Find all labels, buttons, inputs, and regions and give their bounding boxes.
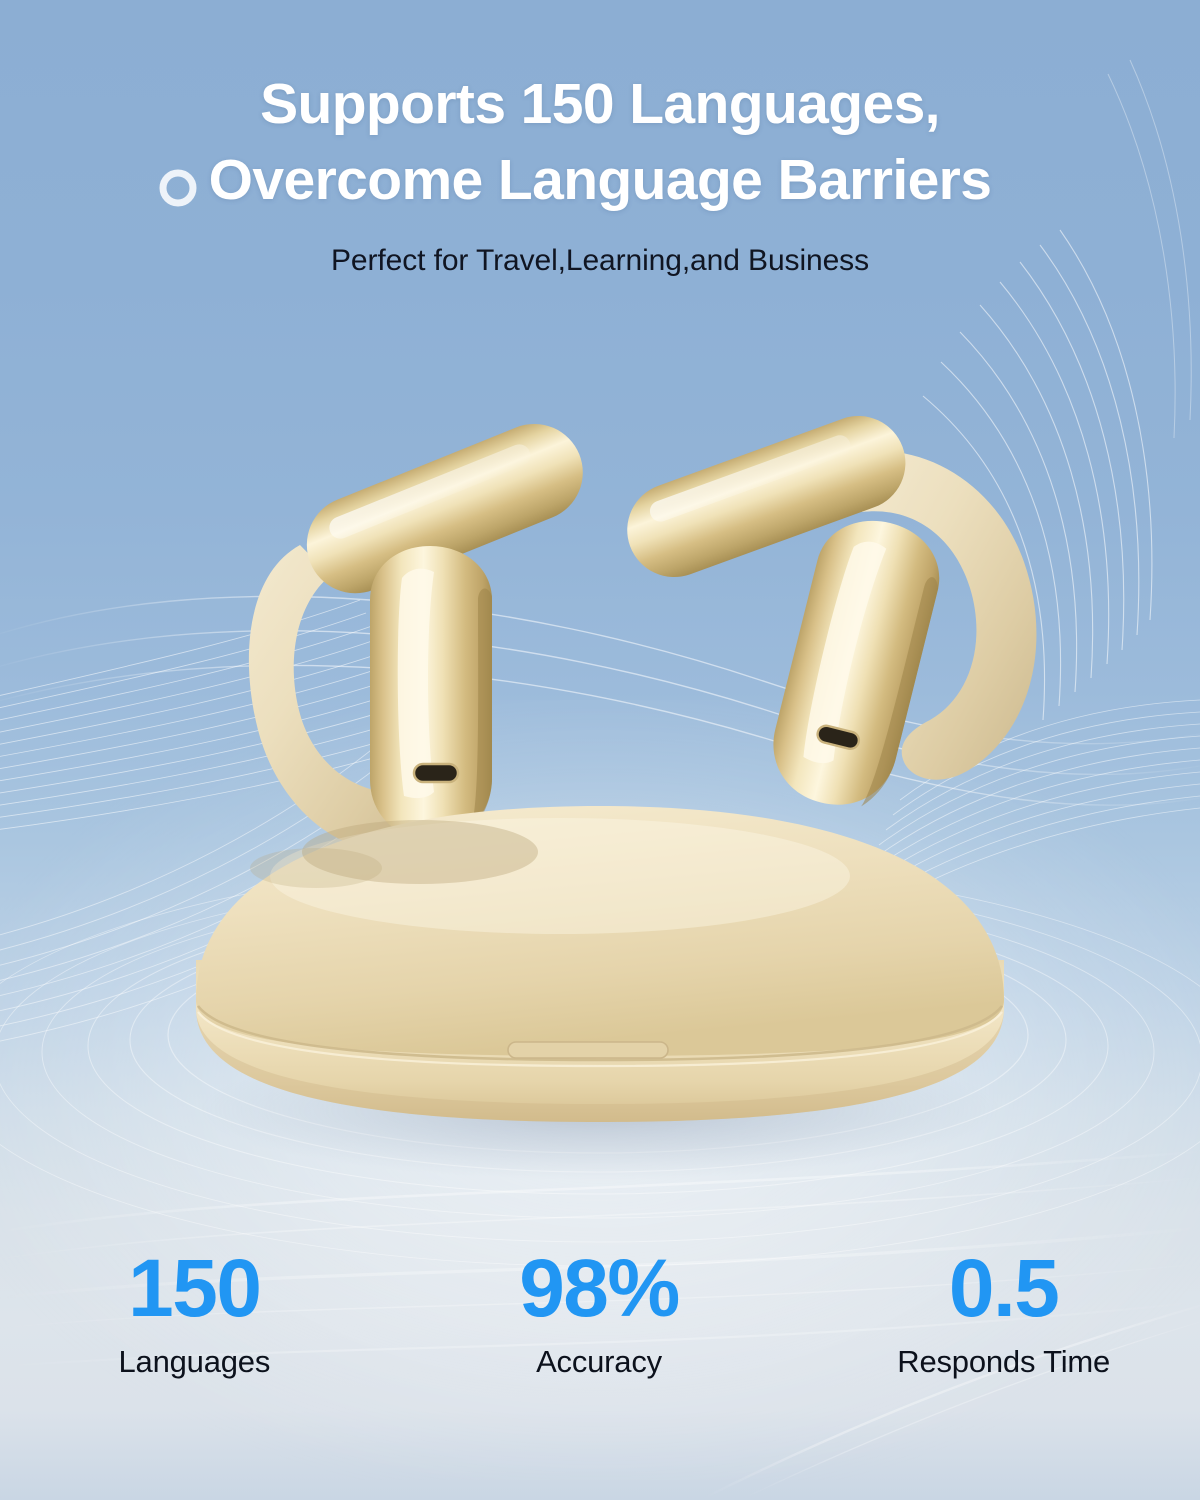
left-earbud-hook [249,545,452,852]
ripple-rings [0,862,1200,1266]
wave-mesh-left [0,600,426,832]
left-earbud-port [414,764,458,782]
page-title: Supports 150 Languages, Overcome Languag… [0,66,1200,218]
left-earbud-highlight [398,569,434,798]
stat-value-accuracy: 98% [397,1243,802,1335]
wave-swoosh-mid [0,596,1200,805]
case-contact-shadow [302,820,538,884]
charging-case [196,806,1004,1122]
stat-value-responds-time: 0.5 [801,1243,1200,1335]
case-ground-shadow [200,1040,1000,1180]
wave-fan-left [0,700,472,1045]
stats-row: 150 Languages 98% Accuracy 0.5 Responds … [0,1243,1200,1381]
headline-line-1: Supports 150 Languages, [260,72,940,136]
right-earbud-highlight [797,537,887,766]
stat-label-languages: Languages [0,1343,397,1381]
case-open-notch [508,1042,668,1058]
stat-label-responds-time: Responds Time [801,1343,1200,1381]
left-earbud-bar-highlight [326,441,534,542]
right-earbud [614,403,1036,818]
stat-accuracy: 98% Accuracy [397,1243,802,1381]
stat-languages: 150 Languages [0,1243,397,1381]
right-earbud-bar-highlight [647,432,853,524]
case-lid [196,806,1004,1056]
wave-fan-right [923,230,1152,720]
right-earbud-gold-bar [614,403,919,591]
right-earbud-port [816,724,861,751]
stat-responds-time: 0.5 Responds Time [801,1243,1200,1381]
right-earbud-hook [856,451,1036,780]
case-lid-highlight [270,818,850,934]
stat-value-languages: 150 [0,1243,397,1335]
left-earbud-pod [370,546,492,840]
left-earbud [249,409,598,852]
headline-line-2: Overcome Language Barriers [0,142,1200,218]
left-earbud-gold-bar [292,409,597,608]
right-earbud-pod [761,508,951,817]
subheadline: Perfect for Travel,Learning,and Business [0,244,1200,278]
stat-label-accuracy: Accuracy [397,1343,802,1381]
case-lid-seam [198,1006,1002,1060]
product-feature-banner: Supports 150 Languages, Overcome Languag… [0,0,1200,1500]
case-bottom-shell [196,960,1004,1122]
wave-mesh-right [837,700,1200,935]
header: Supports 150 Languages, Overcome Languag… [0,0,1200,278]
